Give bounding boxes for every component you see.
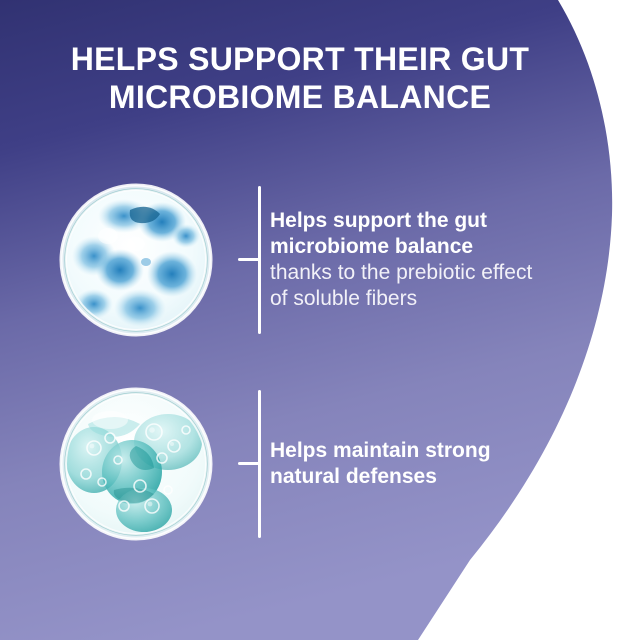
petri-dish-gel-bubbles-icon: [58, 386, 214, 542]
feature-text: Helps support the gut microbiome balance…: [270, 208, 540, 312]
petri-dish-bacteria-colonies-icon: [58, 182, 214, 338]
page-title: HELPS SUPPORT THEIR GUT MICROBIOME BALAN…: [0, 40, 600, 116]
feature-text-bold: Helps maintain strong natural defenses: [270, 438, 540, 490]
feature-text: Helps maintain strong natural defenses: [270, 438, 540, 490]
feature-text-light: thanks to the prebiotic effect of solubl…: [270, 260, 540, 312]
connector-line: [258, 390, 261, 538]
connector-divider: [238, 390, 264, 538]
connector-tick: [238, 462, 260, 465]
feature-text-bold: Helps support the gut microbiome balance: [270, 208, 540, 260]
feature-row: Helps support the gut microbiome balance…: [58, 182, 540, 338]
connector-tick: [238, 258, 260, 261]
connector-line: [258, 186, 261, 334]
feature-row: Helps maintain strong natural defenses: [58, 386, 540, 542]
connector-divider: [238, 186, 264, 334]
promotional-graphic: HELPS SUPPORT THEIR GUT MICROBIOME BALAN…: [0, 0, 640, 640]
